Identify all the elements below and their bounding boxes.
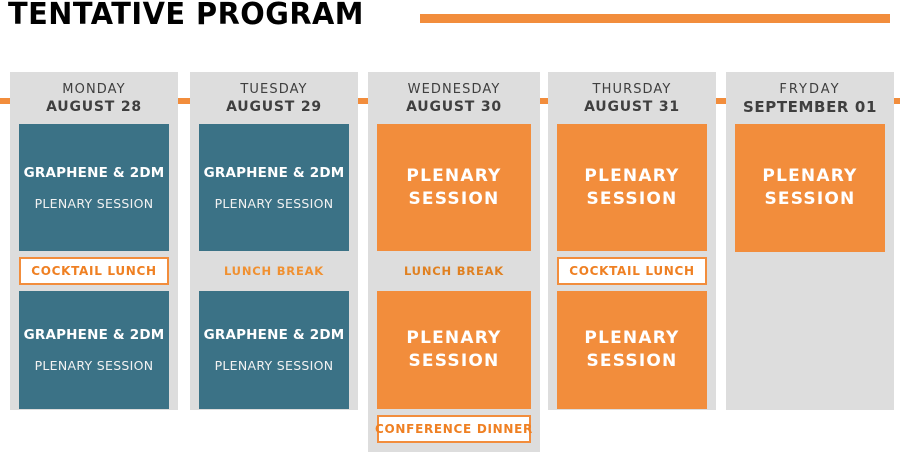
- session-title-line2: SESSION: [584, 350, 679, 373]
- day-name: WEDNESDAY: [377, 81, 531, 98]
- session-block[interactable]: PLENARY SESSION: [557, 291, 707, 409]
- day-date: AUGUST 31: [557, 98, 707, 116]
- session-block[interactable]: PLENARY SESSION: [377, 291, 531, 409]
- session-title-line1: PLENARY: [406, 327, 501, 350]
- session-title: PLENARY SESSION: [584, 165, 679, 211]
- session-subtitle: PLENARY SESSION: [35, 195, 154, 212]
- session-title-line2: SESSION: [762, 188, 857, 211]
- session-title: GRAPHENE & 2DM: [204, 326, 345, 344]
- day-date: AUGUST 29: [199, 98, 349, 116]
- session-title: GRAPHENE & 2DM: [204, 164, 345, 182]
- program-calendar: MONDAY AUGUST 28 GRAPHENE & 2DM PLENARY …: [0, 72, 900, 454]
- session-block[interactable]: PLENARY SESSION: [735, 124, 885, 252]
- session-block[interactable]: GRAPHENE & 2DM PLENARY SESSION: [199, 291, 349, 409]
- day-column-tuesday: TUESDAY AUGUST 29 GRAPHENE & 2DM PLENARY…: [190, 72, 358, 410]
- page-title: TENTATIVE PROGRAM: [8, 0, 364, 32]
- day-header: FRYDAY SEPTEMBER 01: [735, 72, 885, 124]
- session-title-line1: PLENARY: [584, 327, 679, 350]
- session-block[interactable]: GRAPHENE & 2DM PLENARY SESSION: [199, 124, 349, 251]
- session-title: PLENARY SESSION: [406, 165, 501, 211]
- break-cocktail-lunch[interactable]: COCKTAIL LUNCH: [557, 257, 707, 285]
- session-title-line2: SESSION: [584, 188, 679, 211]
- session-block[interactable]: GRAPHENE & 2DM PLENARY SESSION: [19, 124, 169, 251]
- day-name: FRYDAY: [735, 81, 885, 98]
- day-header: THURSDAY AUGUST 31: [557, 72, 707, 124]
- break-label: LUNCH BREAK: [224, 264, 324, 278]
- break-label: LUNCH BREAK: [404, 264, 504, 278]
- session-subtitle: PLENARY SESSION: [215, 357, 334, 374]
- break-cocktail-lunch[interactable]: COCKTAIL LUNCH: [19, 257, 169, 285]
- title-rule: [420, 14, 890, 23]
- session-subtitle: PLENARY SESSION: [215, 195, 334, 212]
- day-column-thursday: THURSDAY AUGUST 31 PLENARY SESSION COCKT…: [548, 72, 716, 410]
- session-title-line1: PLENARY: [762, 165, 857, 188]
- session-title: PLENARY SESSION: [406, 327, 501, 373]
- day-name: MONDAY: [19, 81, 169, 98]
- session-title-line1: PLENARY: [584, 165, 679, 188]
- day-header: TUESDAY AUGUST 29: [199, 72, 349, 124]
- day-date: SEPTEMBER 01: [735, 98, 885, 116]
- day-column-friday: FRYDAY SEPTEMBER 01 PLENARY SESSION: [726, 72, 894, 410]
- event-label: CONFERENCE DINNER: [375, 422, 533, 436]
- program-page: TENTATIVE PROGRAM MONDAY AUGUST 28 GRAPH…: [0, 0, 900, 454]
- empty-slot: [735, 258, 885, 413]
- day-date: AUGUST 30: [377, 98, 531, 116]
- session-block[interactable]: PLENARY SESSION: [557, 124, 707, 251]
- day-column-wednesday: WEDNESDAY AUGUST 30 PLENARY SESSION LUNC…: [368, 72, 540, 452]
- session-title: GRAPHENE & 2DM: [24, 326, 165, 344]
- session-title-line1: PLENARY: [406, 165, 501, 188]
- day-name: TUESDAY: [199, 81, 349, 98]
- title-row: TENTATIVE PROGRAM: [0, 0, 900, 46]
- session-subtitle: PLENARY SESSION: [35, 357, 154, 374]
- day-date: AUGUST 28: [19, 98, 169, 116]
- session-title: PLENARY SESSION: [584, 327, 679, 373]
- break-label: COCKTAIL LUNCH: [569, 264, 695, 278]
- session-block[interactable]: PLENARY SESSION: [377, 124, 531, 251]
- break-label: COCKTAIL LUNCH: [31, 264, 157, 278]
- session-title: PLENARY SESSION: [762, 165, 857, 211]
- column-connector-tick: [894, 98, 900, 104]
- session-title-line2: SESSION: [406, 188, 501, 211]
- break-lunch[interactable]: LUNCH BREAK: [199, 257, 349, 285]
- event-conference-dinner[interactable]: CONFERENCE DINNER: [377, 415, 531, 443]
- day-column-monday: MONDAY AUGUST 28 GRAPHENE & 2DM PLENARY …: [10, 72, 178, 410]
- day-header: WEDNESDAY AUGUST 30: [377, 72, 531, 124]
- day-name: THURSDAY: [557, 81, 707, 98]
- session-title-line2: SESSION: [406, 350, 501, 373]
- break-lunch[interactable]: LUNCH BREAK: [377, 257, 531, 285]
- day-header: MONDAY AUGUST 28: [19, 72, 169, 124]
- session-block[interactable]: GRAPHENE & 2DM PLENARY SESSION: [19, 291, 169, 409]
- session-title: GRAPHENE & 2DM: [24, 164, 165, 182]
